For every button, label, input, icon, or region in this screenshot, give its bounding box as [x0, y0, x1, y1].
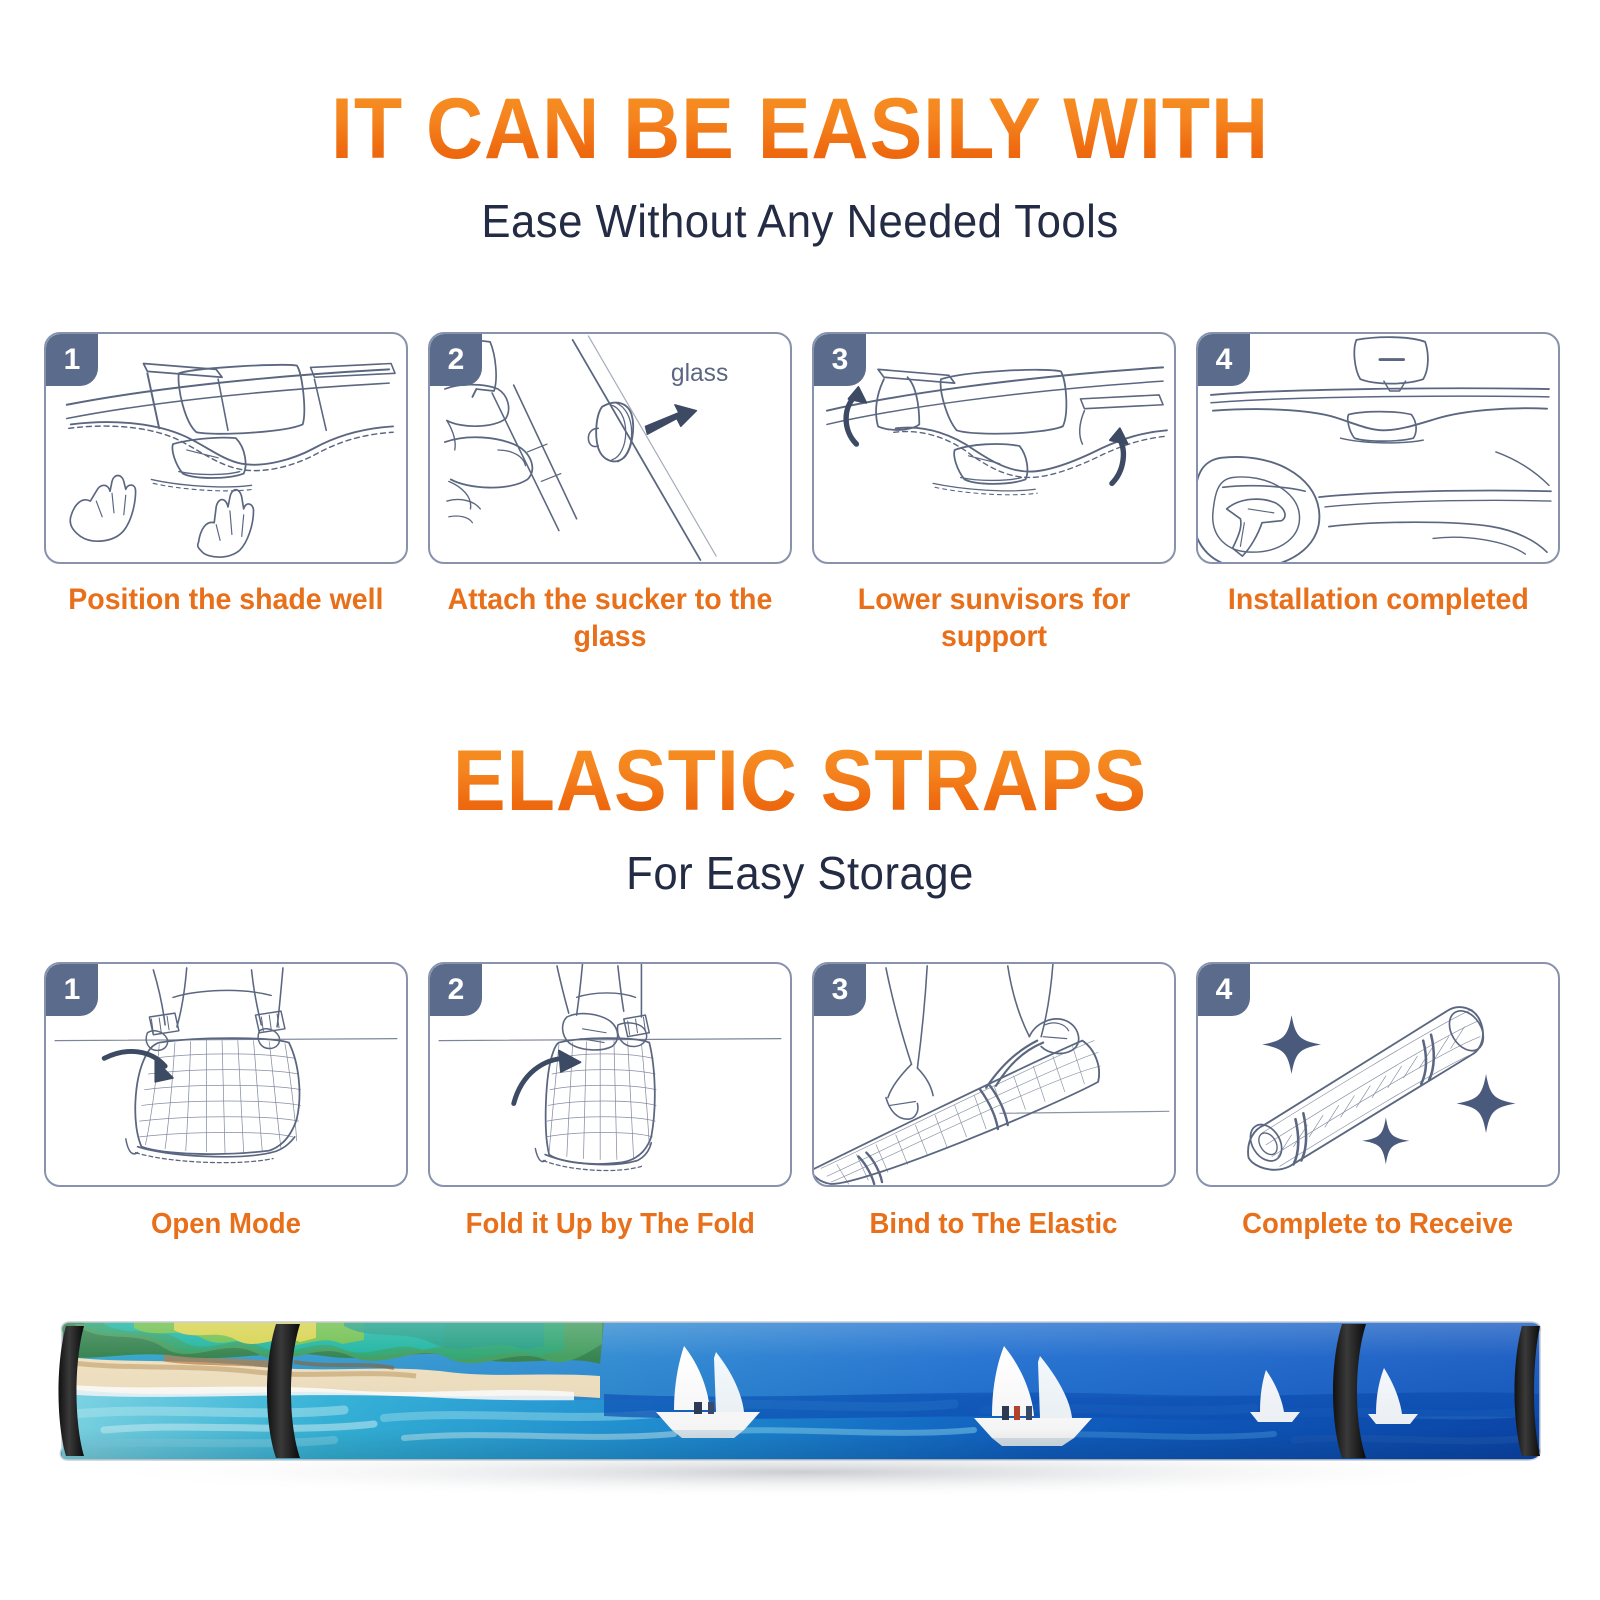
- install-step-2-caption: Attach the sucker to the glass: [437, 582, 783, 655]
- storage-step-4-badge: 4: [1198, 964, 1250, 1016]
- install-step-4-card: 4: [1196, 332, 1560, 564]
- install-step-1-card: 1: [44, 332, 408, 564]
- dashboard-with-hands-illustration: [46, 334, 406, 562]
- fold-up-illustration: [430, 964, 790, 1185]
- storage-step-2-card: 2: [428, 962, 792, 1187]
- open-mode-illustration: [46, 964, 406, 1185]
- install-step-2: 2: [428, 332, 792, 655]
- storage-step-3-badge: 3: [814, 964, 866, 1016]
- storage-step-4: 4: [1196, 962, 1560, 1242]
- install-step-4-caption: Installation completed: [1228, 582, 1529, 619]
- storage-step-1-card: 1: [44, 962, 408, 1187]
- install-step-3-caption: Lower sunvisors for support: [821, 582, 1167, 655]
- install-step-1-badge: 1: [46, 334, 98, 386]
- install-step-3-badge: 3: [814, 334, 866, 386]
- storage-headline: ELASTIC STRAPS: [64, 738, 1536, 824]
- hero-headline: IT CAN BE EASILY WITH: [64, 86, 1536, 172]
- storage-step-3-caption: Bind to The Elastic: [870, 1207, 1118, 1242]
- bind-elastic-illustration: [814, 964, 1174, 1185]
- storage-step-4-caption: Complete to Receive: [1242, 1207, 1513, 1242]
- install-step-4: 4: [1196, 332, 1560, 655]
- storage-step-1: 1: [44, 962, 408, 1242]
- install-step-2-card: 2: [428, 332, 792, 564]
- installation-steps-row: 1: [44, 332, 1560, 655]
- rolled-bundle-complete-illustration: [1198, 964, 1558, 1185]
- storage-step-2-badge: 2: [430, 964, 482, 1016]
- storage-step-2-caption: Fold it Up by The Fold: [465, 1207, 754, 1242]
- install-step-3: 3: [812, 332, 1176, 655]
- storage-step-2: 2: [428, 962, 792, 1242]
- storage-step-3: 3: [812, 962, 1176, 1242]
- storage-subheading: For Easy Storage: [40, 846, 1560, 900]
- install-step-1: 1: [44, 332, 408, 655]
- lowering-sunvisors-illustration: [814, 334, 1174, 562]
- product-photo-rolled-sunshade: [44, 1306, 1556, 1516]
- install-step-1-caption: Position the shade well: [68, 582, 383, 619]
- install-step-2-badge: 2: [430, 334, 482, 386]
- hero-subheading: Ease Without Any Needed Tools: [40, 194, 1560, 248]
- car-interior-completed-illustration: [1198, 334, 1558, 562]
- storage-step-1-caption: Open Mode: [151, 1207, 301, 1242]
- suction-cup-on-glass-illustration: glass: [430, 334, 790, 562]
- storage-heading-block: ELASTIC STRAPS For Easy Storage: [0, 738, 1600, 900]
- install-step-3-card: 3: [812, 332, 1176, 564]
- glass-annotation-text: glass: [671, 360, 728, 387]
- hero-heading-block: IT CAN BE EASILY WITH Ease Without Any N…: [0, 86, 1600, 248]
- install-step-4-badge: 4: [1198, 334, 1250, 386]
- storage-step-4-card: 4: [1196, 962, 1560, 1187]
- storage-step-1-badge: 1: [46, 964, 98, 1016]
- storage-steps-row: 1: [44, 962, 1560, 1242]
- storage-step-3-card: 3: [812, 962, 1176, 1187]
